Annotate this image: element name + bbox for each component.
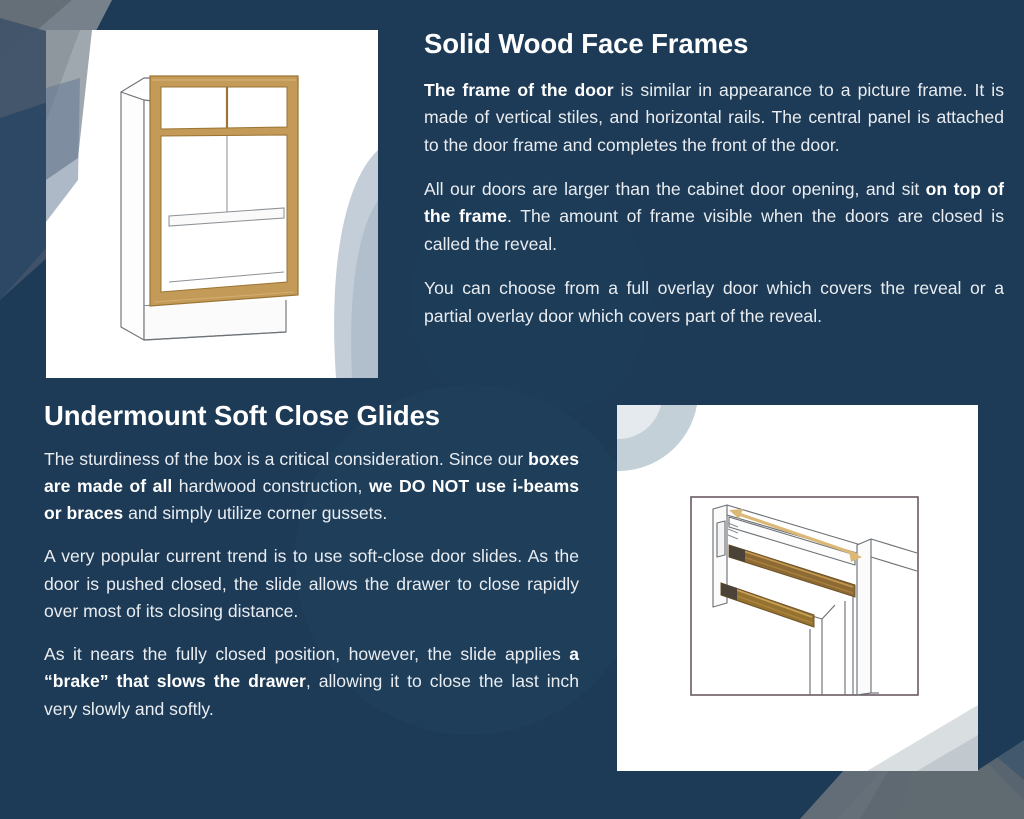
page-title-face-frames: Solid Wood Face Frames (424, 28, 1004, 60)
face-frames-paragraph-1: The frame of the door is similar in appe… (424, 77, 1004, 159)
page-title-soft-close-glides: Undermount Soft Close Glides (44, 400, 579, 432)
glides-paragraph-3-part-1: As it nears the fully closed position, h… (44, 644, 569, 664)
glides-paragraph-1: The sturdiness of the box is a critical … (44, 446, 579, 528)
glides-paragraph-1-part-5: and simply utilize corner gussets. (123, 503, 387, 523)
glides-paragraph-1-part-3: hardwood construction, (172, 476, 369, 496)
soft-close-glides-text-column: Undermount Soft Close Glides The sturdin… (44, 400, 579, 731)
face-frames-paragraph-2-part-3: . The amount of frame visible when the d… (424, 206, 1004, 253)
drawer-glide-image-card (617, 405, 978, 771)
cabinet-face-frame-diagram (46, 30, 378, 378)
glides-paragraph-1-part-1: The sturdiness of the box is a critical … (44, 449, 528, 469)
face-frame-image-card (46, 30, 378, 378)
glides-paragraph-3: As it nears the fully closed position, h… (44, 641, 579, 723)
face-frames-paragraph-2: All our doors are larger than the cabine… (424, 176, 1004, 258)
glides-paragraph-2: A very popular current trend is to use s… (44, 543, 579, 625)
emphasis-frame-of-the-door: The frame of the door (424, 80, 614, 100)
undermount-drawer-glide-diagram (617, 405, 978, 771)
face-frames-paragraph-2-part-1: All our doors are larger than the cabine… (424, 179, 926, 199)
face-frames-paragraph-3: You can choose from a full overlay door … (424, 275, 1004, 330)
face-frames-text-column: Solid Wood Face Frames The frame of the … (424, 28, 1004, 330)
slide-canvas: Solid Wood Face Frames The frame of the … (0, 0, 1024, 819)
